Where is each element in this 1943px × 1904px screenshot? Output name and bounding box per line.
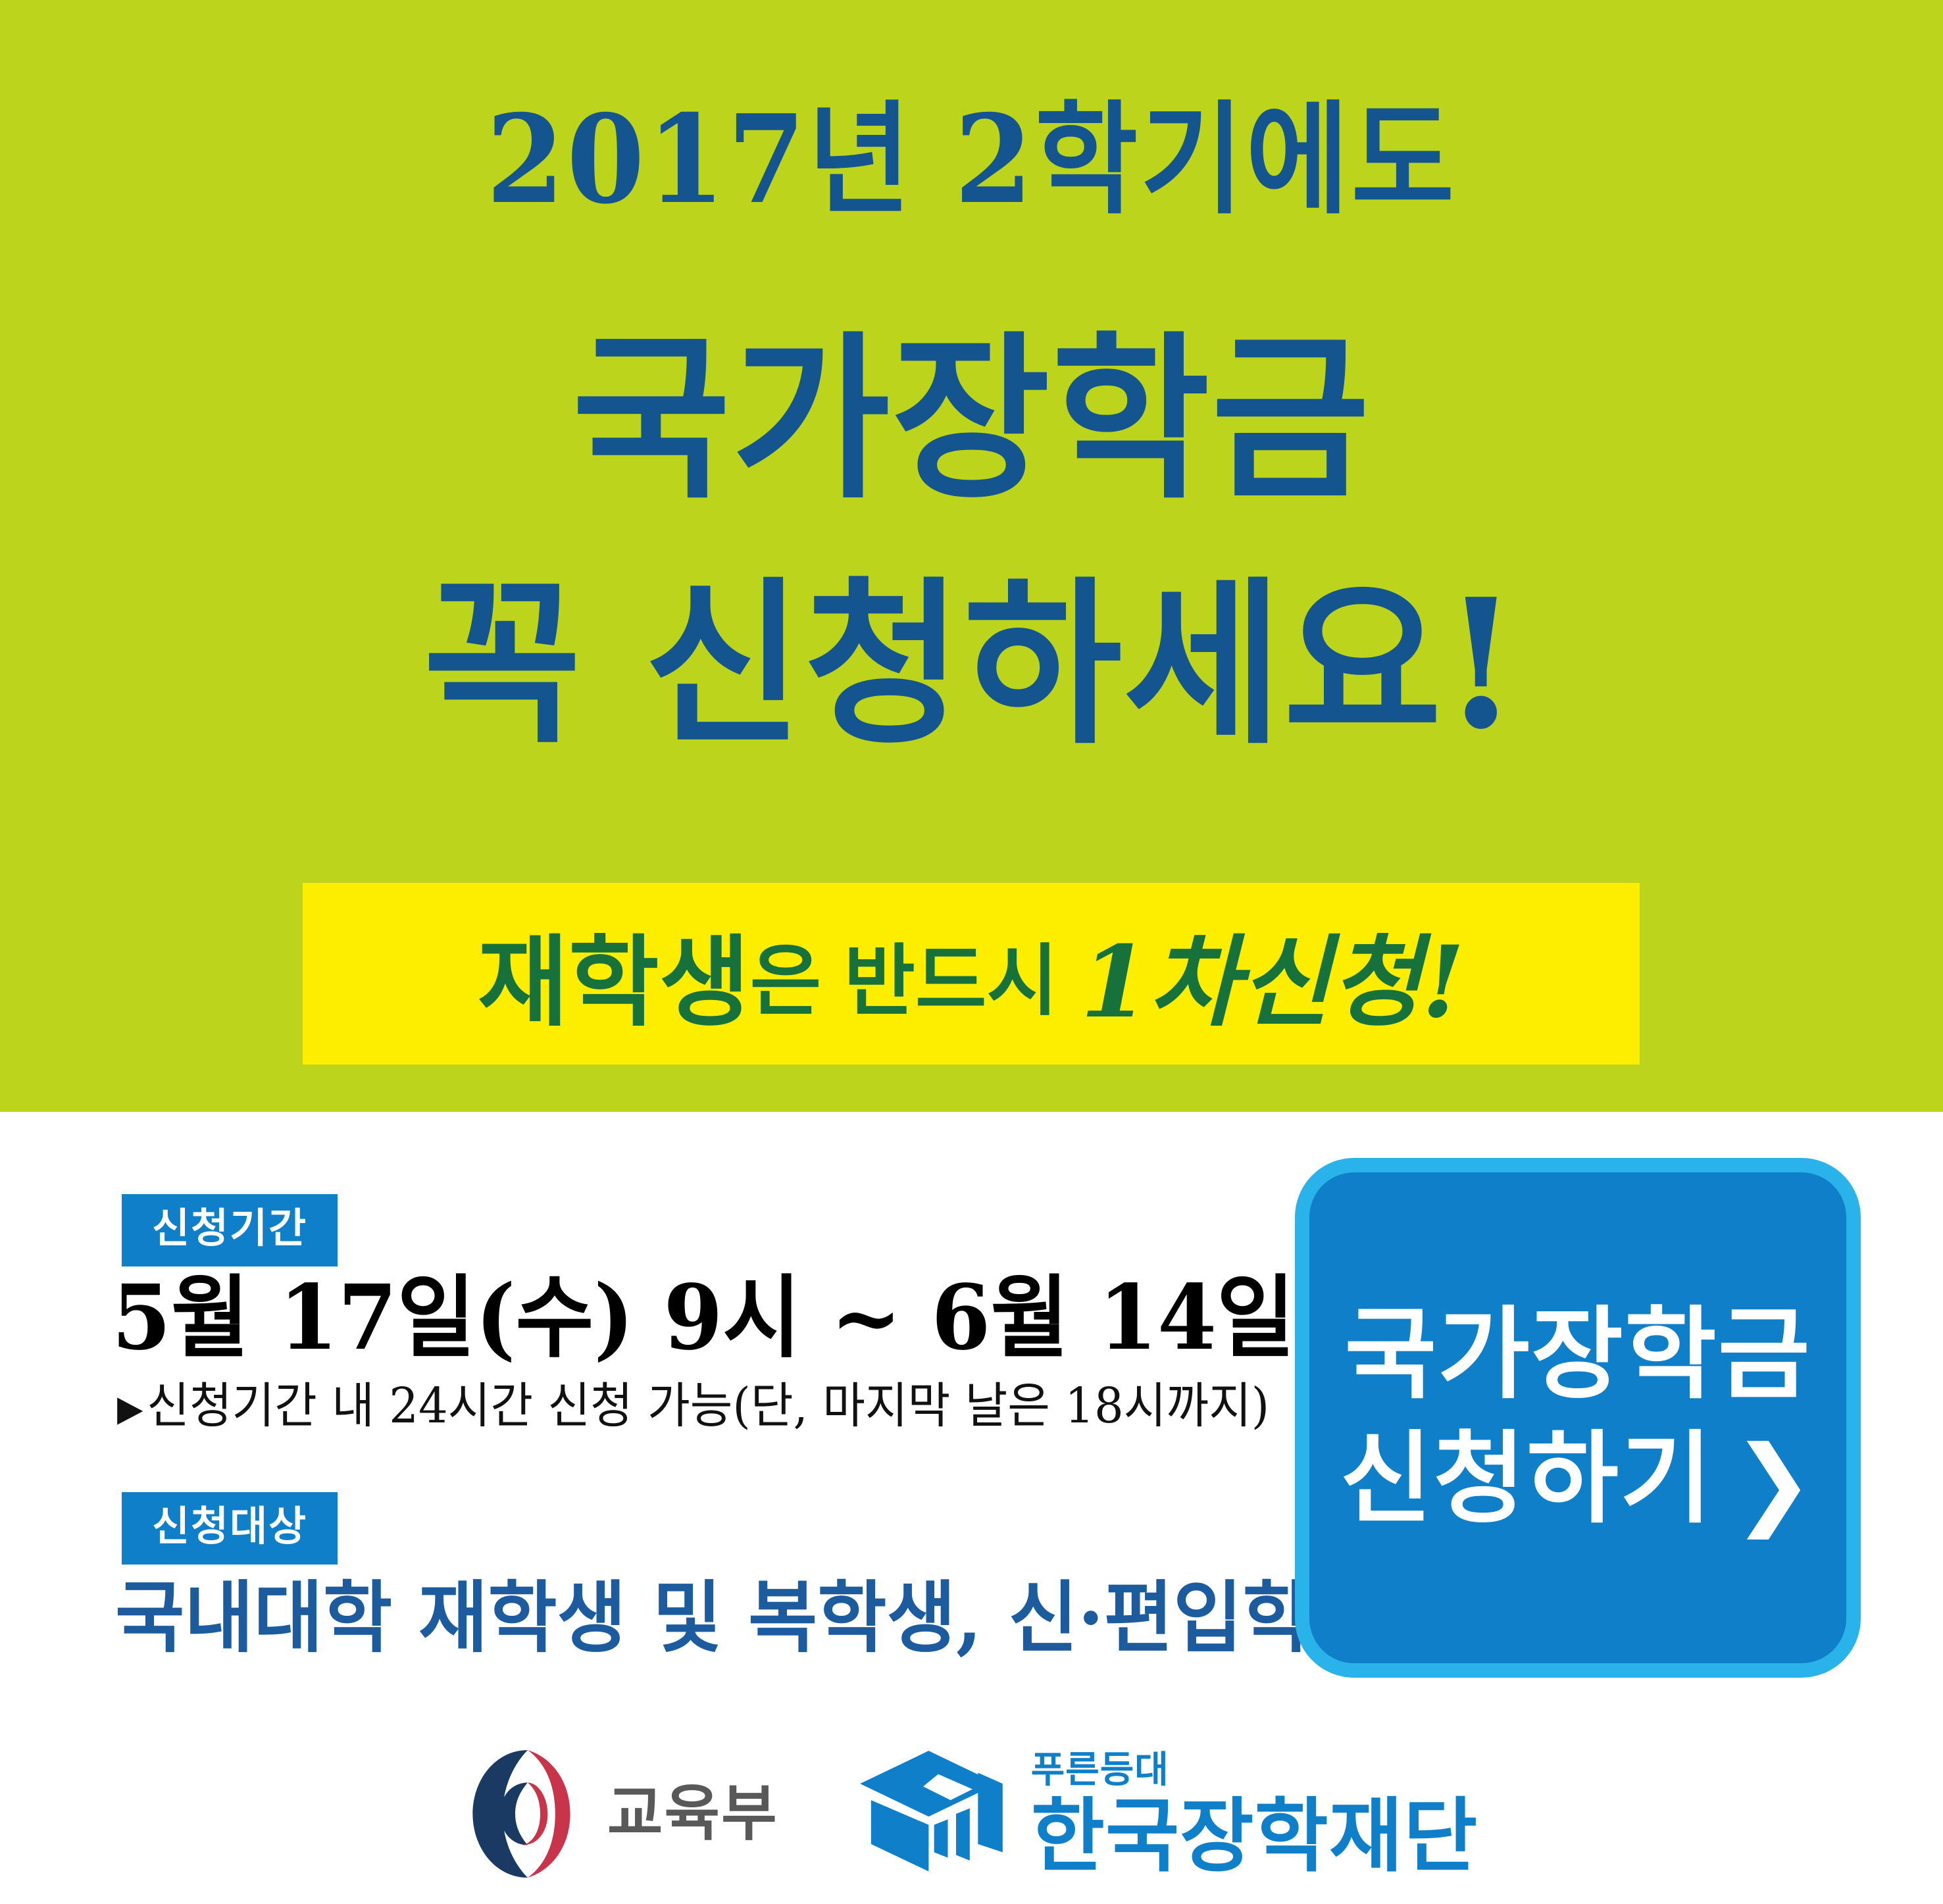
highlight-part-2: 은 (750, 918, 822, 1030)
hero-title-line1: 국가장학금 (572, 314, 1371, 523)
moe-label: 교육부 (607, 1784, 778, 1844)
highlight-text: 재학생 은 반드시 1차신청! (303, 883, 1640, 1065)
chevron-right-icon: ❯ (1732, 1420, 1816, 1543)
hero-title-line2: 꼭 신청하세요! (29, 541, 1913, 787)
application-target-value: 국내대학 재학생 및 복학생, 신·편입학생 (115, 1579, 1381, 1657)
application-period-note-text: 신청기간 내 24시간 신청 가능(단, 마지막 날은 18시까지) (147, 1378, 1269, 1434)
kosaf-wordmark: 푸른등대 한국장학재단 (1031, 1751, 1478, 1876)
hero-title: 국가장학금 꼭 신청하세요! (29, 296, 1913, 786)
highlight-part-3: 반드시 (844, 918, 1058, 1030)
cta-line-2-wrap: 신청하기❯ (1340, 1417, 1815, 1543)
triangle-bullet-icon: ▶ (117, 1388, 143, 1429)
hero-kicker: 2017년 2학기에도 (78, 99, 1865, 220)
badge-application-target: 신청대상 (122, 1492, 338, 1565)
kosaf-logo: 푸른등대 한국장학재단 (857, 1745, 1478, 1883)
graduation-cap-icon (857, 1745, 1022, 1883)
hero-banner: 2017년 2학기에도 국가장학금 꼭 신청하세요! 재학생 은 반드시 1차신… (0, 0, 1943, 1112)
kosaf-sublabel: 푸른등대 (1031, 1751, 1478, 1788)
highlight-part-4: 1차신청! (1080, 903, 1465, 1045)
application-period-note: ▶신청기간 내 24시간 신청 가능(단, 마지막 날은 18시까지) (117, 1382, 1269, 1430)
cta-line-1: 국가장학금 (1344, 1293, 1811, 1416)
footer-logos: 교육부 푸른등대 한국장학재단 (0, 1724, 1943, 1904)
highlight-part-1: 재학생 (478, 903, 750, 1045)
kosaf-label: 한국장학재단 (1031, 1796, 1478, 1876)
badge-application-period: 신청기간 (122, 1194, 338, 1266)
cta-line-2: 신청하기 (1340, 1423, 1713, 1535)
highlight-bar: 재학생 은 반드시 1차신청! (303, 883, 1640, 1065)
taegeuk-emblem-icon (465, 1745, 590, 1883)
moe-logo: 교육부 (465, 1745, 778, 1883)
apply-scholarship-button[interactable]: 국가장학금 신청하기❯ (1295, 1158, 1861, 1678)
